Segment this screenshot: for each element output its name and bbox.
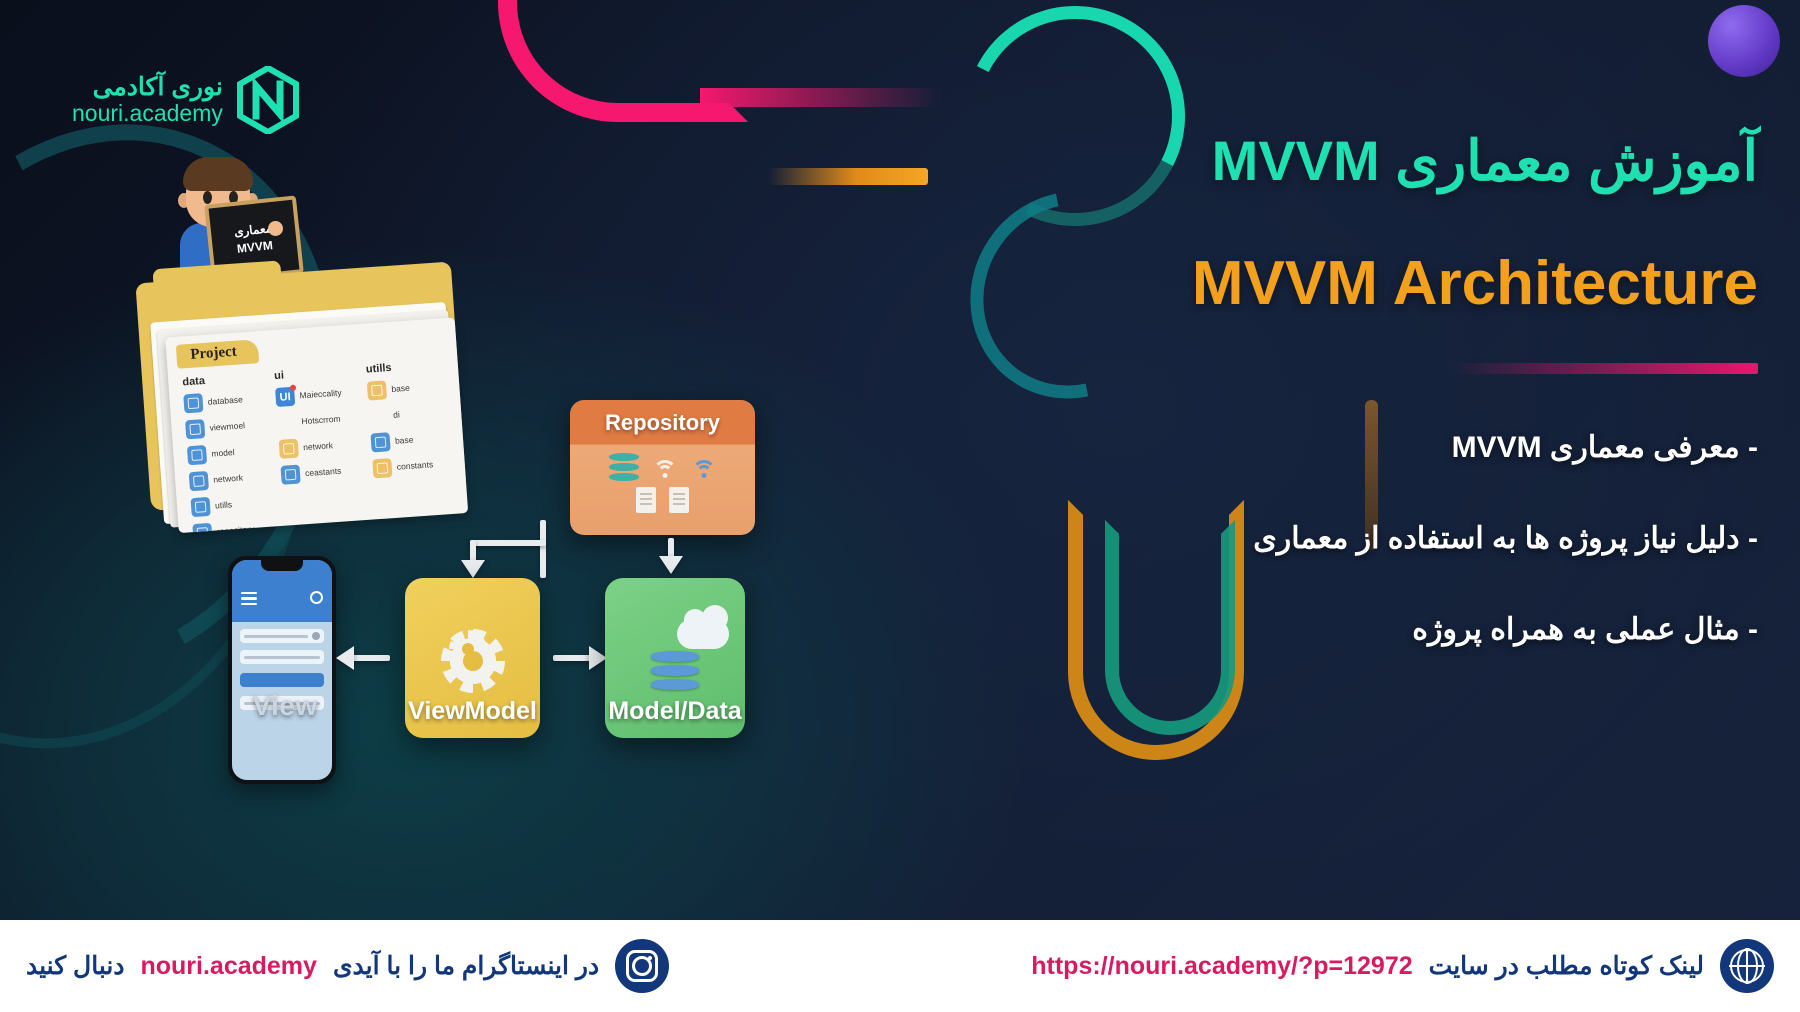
arrow-viewmodel-to-model [553, 655, 591, 661]
footer-instagram-suffix: دنبال کنید [26, 951, 124, 981]
mascot-eye-left [203, 191, 212, 204]
user-avatar-icon[interactable] [310, 591, 323, 604]
folder-sheet: Project data database viewmoel model [165, 317, 468, 533]
nouri-n-logo-icon [237, 66, 299, 134]
phone-body [228, 556, 336, 784]
bullet-item: - معرفی معماری MVVM [1118, 430, 1758, 465]
footer-site-group[interactable]: لینک کوتاه مطلب در سایت https://nouri.ac… [1031, 939, 1774, 993]
entry-label: repository [217, 524, 255, 533]
phone-list-item [240, 650, 324, 664]
arrowhead-to-viewmodel [461, 560, 485, 578]
entry-label: Hotscrrom [301, 414, 341, 427]
phone-list-item [240, 629, 324, 643]
document-icon [669, 487, 689, 513]
wifi-icon [691, 458, 717, 478]
node-viewmodel: ViewModel [405, 578, 540, 738]
mascot-hair [183, 157, 253, 191]
database-stack-icon [651, 625, 699, 693]
hamburger-menu-icon[interactable] [241, 592, 257, 608]
constants-icon [372, 458, 392, 478]
folder-column-ui: ui UI Maieccality Hotscrrom network [274, 364, 370, 533]
footer-instagram-prefix: در اینستاگرام ما را با آیدی [333, 951, 599, 981]
folder-entry: UI Maieccality [275, 382, 360, 407]
instagram-icon [615, 939, 669, 993]
repository-icon-row [570, 453, 755, 483]
entry-label: network [303, 440, 333, 453]
network-icon [279, 439, 299, 459]
node-label-repository: Repository [570, 400, 755, 445]
base-icon [367, 380, 387, 400]
folder-entry: ceastants [280, 460, 365, 485]
page-title-en: MVVM Architecture [1192, 248, 1758, 319]
folder-entry: base [370, 428, 455, 453]
phone-appbar [232, 560, 332, 622]
teal-ring-lower-decoration [930, 152, 1213, 438]
arrow-repo-to-viewmodel-horizontal [470, 540, 546, 546]
entry-label: base [391, 383, 410, 395]
poster-canvas: نوری آکادمی nouri.academy معماری MVVM Pr… [0, 0, 1800, 1012]
folder-entry: di [369, 402, 454, 427]
node-label-viewmodel: ViewModel [408, 697, 537, 726]
network-icon [189, 471, 209, 491]
folder-entry: Hotscrrom [277, 408, 362, 433]
arrow-repo-to-viewmodel-vertical [540, 520, 546, 578]
node-label-view: View [220, 690, 350, 722]
entry-label: network [213, 473, 243, 486]
globe-icon [1720, 939, 1774, 993]
arrow-viewmodel-to-view [352, 655, 390, 661]
wifi-icon [652, 458, 678, 478]
entry-label: database [207, 395, 243, 408]
folder-tab-label: Project [176, 339, 260, 369]
bullet-list: - معرفی معماری MVVM - دلیل نیاز پروژه ها… [1118, 430, 1758, 703]
repository-icon-row-2 [570, 487, 755, 513]
phone-notch [261, 560, 303, 571]
entry-label: Maieccality [299, 388, 342, 402]
folder-entry: repository [192, 518, 277, 533]
utills-icon [191, 497, 211, 517]
brand-logo[interactable]: نوری آکادمی nouri.academy [72, 66, 299, 134]
column-head: data [182, 371, 267, 389]
viewmodel-icon [185, 419, 205, 439]
constants-icon [280, 465, 300, 485]
folder-entry: utills [191, 492, 276, 517]
entry-label: di [393, 410, 400, 421]
cloud-icon [677, 619, 729, 649]
folder-entry: model [187, 440, 272, 465]
footer-site-label: لینک کوتاه مطلب در سایت [1429, 951, 1704, 981]
arrowhead-to-model [659, 556, 683, 574]
phone-primary-button [240, 673, 324, 687]
chalkboard-line-2: MVVM [236, 237, 274, 258]
ui-icon: UI [275, 387, 295, 407]
bullet-item: - مثال عملی به همراه پروژه [1118, 612, 1758, 647]
repository-icon [192, 523, 212, 533]
entry-label: model [211, 447, 235, 459]
phone-screen [232, 560, 332, 780]
folder-column-data: data database viewmoel model [182, 371, 278, 533]
node-model-data: Model/Data [605, 578, 745, 738]
folder-entry: base [367, 376, 452, 401]
folder-entry: network [189, 466, 274, 491]
pink-tail-decoration [700, 88, 940, 107]
base-icon [370, 432, 390, 452]
database-icon [183, 393, 203, 413]
folder-columns: data database viewmoel model [182, 358, 461, 533]
entry-label: base [395, 435, 414, 447]
title-underline-decoration [768, 168, 928, 185]
entry-label: constants [396, 459, 433, 472]
folder-entry: network [279, 434, 364, 459]
mascot-hand [268, 221, 283, 236]
arrowhead-to-view [336, 646, 354, 670]
footer-instagram-handle[interactable]: nouri.academy [140, 952, 316, 981]
column-head: ui [274, 364, 359, 382]
folder-entry: constants [372, 454, 457, 479]
entry-label: ceastants [305, 466, 342, 479]
database-cylinder-icon [609, 453, 639, 483]
column-head: utills [366, 358, 451, 376]
brand-name-fa: نوری آکادمی [72, 74, 223, 101]
node-label-model-data: Model/Data [608, 697, 741, 726]
document-icon [636, 487, 656, 513]
model-icon [187, 445, 207, 465]
footer-instagram-group[interactable]: در اینستاگرام ما را با آیدی nouri.academ… [26, 939, 669, 993]
purple-sphere-decoration [1708, 5, 1780, 77]
footer-bar: لینک کوتاه مطلب در سایت https://nouri.ac… [0, 920, 1800, 1012]
folder-entry: database [183, 389, 268, 414]
project-folder-illustration: Project data database viewmoel model [131, 261, 478, 541]
folder-column-utills: utills base di base con [366, 358, 462, 533]
page-title-fa: آموزش معماری MVVM [1212, 128, 1758, 194]
entry-label: utills [215, 500, 233, 512]
folder-entry: viewmoel [185, 415, 270, 440]
pink-divider [1448, 363, 1758, 374]
node-repository: Repository [570, 400, 755, 535]
brand-name-en: nouri.academy [72, 101, 223, 126]
footer-site-url[interactable]: https://nouri.academy/?p=12972 [1031, 952, 1412, 981]
view-phone-mockup [228, 556, 336, 784]
entry-label: viewmoel [209, 420, 245, 433]
bullet-item: - دلیل نیاز پروژه ها به استفاده از معمار… [1118, 521, 1758, 556]
